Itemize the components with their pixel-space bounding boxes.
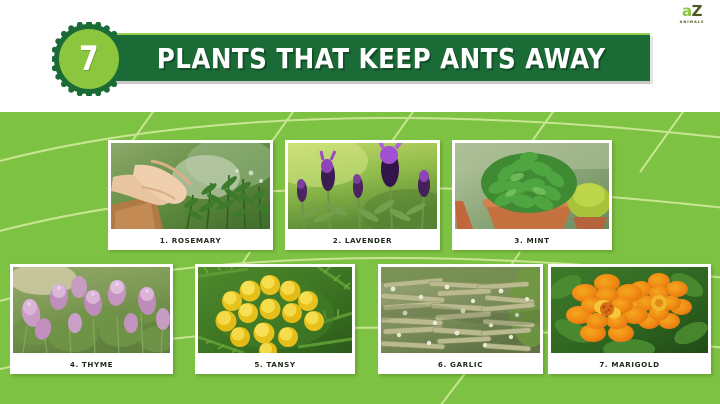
- mint-photo-art: [455, 143, 609, 229]
- card-photo-thyme: [13, 267, 170, 353]
- card-photo-rosemary: [111, 143, 270, 229]
- az-animals-logo[interactable]: aZ ANIMALS: [672, 4, 712, 28]
- plant-card[interactable]: 6. GARLIC: [378, 264, 543, 374]
- card-label-tansy: 5. TANSY: [195, 356, 355, 374]
- thyme-photo-art: [13, 267, 170, 353]
- marigold-photo-art: [551, 267, 708, 353]
- count-badge: 7: [52, 22, 126, 96]
- header-band: PLANTS THAT KEEP ANTS AWAY: [0, 0, 720, 112]
- tansy-photo-art: [198, 267, 352, 353]
- card-label-mint: 3. MINT: [452, 232, 612, 250]
- card-label-garlic: 6. GARLIC: [378, 356, 543, 374]
- title-bar: PLANTS THAT KEEP ANTS AWAY: [70, 33, 650, 81]
- card-label-marigold: 7. MARIGOLD: [548, 356, 711, 374]
- content-background: 1. ROSEMARY: [0, 112, 720, 404]
- badge-circle: 7: [59, 29, 119, 89]
- plant-card[interactable]: 2. LAVENDER: [285, 140, 440, 250]
- garlic-photo-art: [381, 267, 540, 353]
- badge-number: 7: [79, 42, 98, 76]
- card-label-lavender: 2. LAVENDER: [285, 232, 440, 250]
- card-label-rosemary: 1. ROSEMARY: [108, 232, 273, 250]
- plant-card[interactable]: 4. THYME: [10, 264, 173, 374]
- logo-letter-z: Z: [692, 2, 702, 20]
- plant-card[interactable]: 7. MARIGOLD: [548, 264, 711, 374]
- page-title: PLANTS THAT KEEP ANTS AWAY: [105, 35, 615, 81]
- card-photo-lavender: [288, 143, 437, 229]
- lavender-photo-art: [288, 143, 437, 229]
- logo-letter-a: a: [682, 2, 692, 20]
- logo-subtitle: ANIMALS: [672, 20, 712, 24]
- card-photo-marigold: [551, 267, 708, 353]
- plant-card[interactable]: 3. MINT: [452, 140, 612, 250]
- card-photo-garlic: [381, 267, 540, 353]
- rosemary-photo-art: [111, 143, 270, 229]
- plant-card[interactable]: 5. TANSY: [195, 264, 355, 374]
- logo-mark: aZ: [672, 4, 712, 19]
- card-photo-tansy: [198, 267, 352, 353]
- card-photo-mint: [455, 143, 609, 229]
- card-label-thyme: 4. THYME: [10, 356, 173, 374]
- plant-card[interactable]: 1. ROSEMARY: [108, 140, 273, 250]
